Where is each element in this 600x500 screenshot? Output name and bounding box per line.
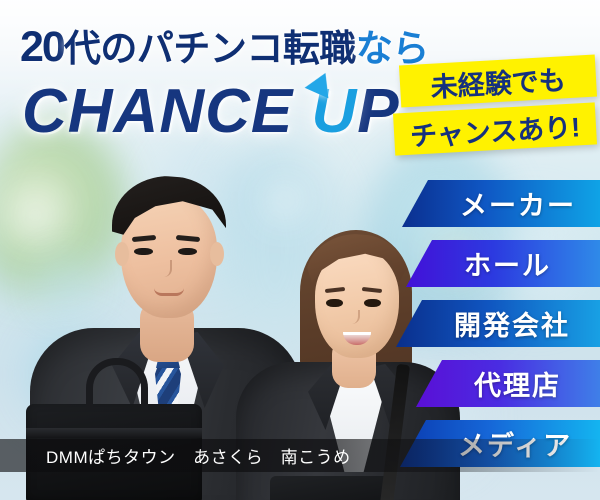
caption-bar: DMMぱちタウン あさくら 南こうめ — [0, 439, 600, 472]
chance-up-logo: CHANCE UP — [22, 76, 400, 147]
briefcase-flap — [26, 428, 202, 438]
headline: 20代のパチンコ転職なら — [20, 18, 429, 72]
woman-bag — [270, 476, 390, 500]
logo-word-chance: CHANCE — [22, 77, 293, 146]
briefcase-handle — [86, 358, 148, 410]
headline-number: 20 — [20, 23, 64, 71]
category-button-hall[interactable]: ホール — [406, 240, 600, 287]
man-eye-left — [134, 248, 153, 255]
category-button-agency[interactable]: 代理店 — [416, 360, 600, 407]
man-ear-right — [210, 242, 224, 266]
man-eye-right — [178, 248, 197, 255]
headline-suffix: なら — [356, 28, 429, 69]
headline-text: 代のパチンコ転職 — [64, 28, 356, 69]
banner-ad: 20代のパチンコ転職なら CHANCE UP 未経験でも チャンスあり! メーカ… — [0, 0, 600, 500]
category-button-developer[interactable]: 開発会社 — [396, 300, 600, 347]
woman-eye-right — [364, 299, 381, 307]
man-mouth — [154, 288, 184, 296]
woman-eye-left — [326, 299, 343, 307]
category-button-maker[interactable]: メーカー — [402, 180, 600, 227]
man-ear-left — [115, 242, 129, 266]
